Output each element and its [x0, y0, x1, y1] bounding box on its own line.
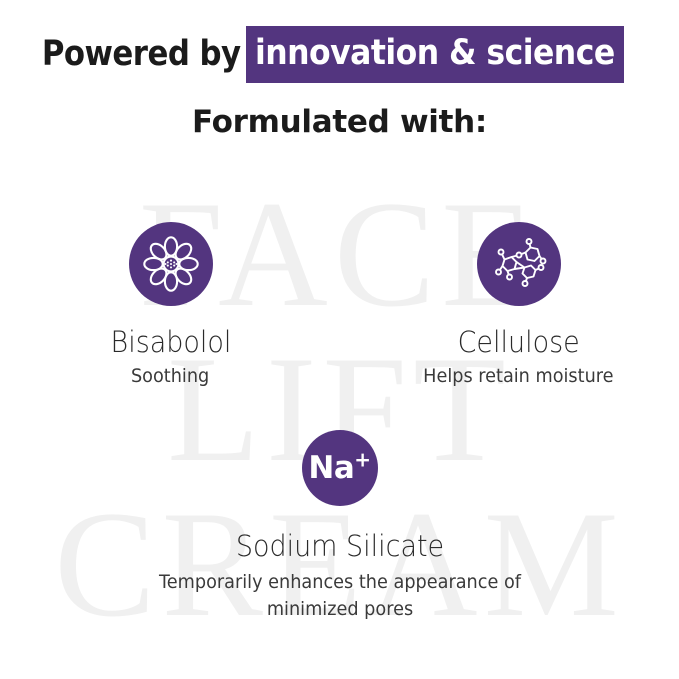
subtitle: Formulated with: [0, 104, 679, 140]
sodium-ion-label: Na+ [308, 453, 370, 484]
sodium-charge: + [354, 447, 370, 471]
header-highlight-text: innovation & science [246, 26, 624, 83]
flower-icon [129, 222, 213, 306]
molecule-icon [477, 222, 561, 306]
infographic-canvas: FACE LIFT CREAM Powered by innovation & … [0, 0, 679, 679]
ingredient-name: Sodium Silicate [235, 530, 443, 563]
ingredient-description: Temporarily enhances the appearance of m… [140, 569, 540, 622]
ingredient-row-top: Bisabolol Soothing [0, 222, 679, 390]
ingredient-name: Bisabolol [110, 326, 231, 359]
ingredient-card-bisabolol: Bisabolol Soothing [21, 222, 321, 390]
sodium-ion-icon: Na+ [302, 430, 378, 506]
ingredient-row-bottom: Na+ Sodium Silicate Temporarily enhances… [0, 430, 679, 623]
ingredient-card-cellulose: Cellulose Helps retain moisture [369, 222, 669, 390]
ingredient-name: Cellulose [457, 326, 579, 359]
sodium-symbol: Na [308, 450, 354, 486]
ingredient-description: Soothing [131, 363, 209, 390]
ingredient-description: Helps retain moisture [423, 363, 613, 390]
header-plain-text: Powered by [42, 34, 246, 74]
header-title: Powered by innovation & science [0, 26, 679, 82]
ingredient-card-sodium-silicate: Na+ Sodium Silicate Temporarily enhances… [60, 430, 620, 623]
